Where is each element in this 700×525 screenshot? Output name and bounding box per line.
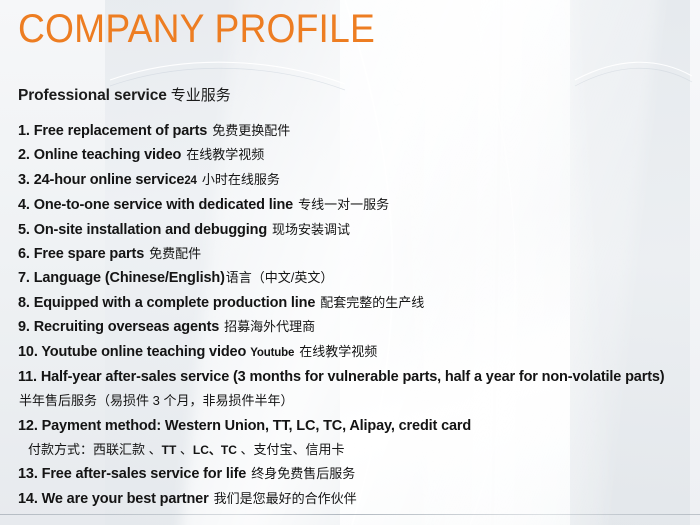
item-text-en: Free replacement of parts: [34, 123, 208, 139]
item-text-cn: 免费更换配件: [207, 123, 290, 138]
item-number: 3.: [18, 172, 30, 188]
item-text-cn: 半年售后服务（易损件 3 个月，非易损件半年）: [18, 393, 293, 408]
item-number: 9.: [18, 319, 30, 335]
list-item: 10. Youtube online teaching videoYoutube…: [18, 340, 690, 365]
item-text-cn: 配套完整的生产线: [315, 295, 424, 310]
list-item: 4. One-to-one service with dedicated lin…: [18, 193, 690, 217]
background-band-5: [690, 0, 700, 525]
item-text-cn: 小时在线服务: [197, 172, 280, 187]
item-number: 12.: [18, 418, 38, 434]
item-text-en: Recruiting overseas agents: [34, 319, 219, 335]
list-item: 7. Language (Chinese/English)语言（中文/英文）: [18, 266, 690, 290]
item-text-cn: 语言（中文/英文）: [225, 270, 334, 285]
subline-part-a: 付款方式：西联汇款 、: [28, 442, 162, 457]
item-number: 6.: [18, 246, 30, 262]
item-text-cn: 我们是您最好的合作伙伴: [209, 491, 357, 506]
subline-part-b: 、: [176, 442, 193, 457]
subline-latin-b: LC、TC: [193, 443, 237, 457]
list-item: 14. We are your best partner我们是您最好的合作伙伴: [18, 487, 690, 511]
item-text-cn: 在线教学视频: [181, 147, 264, 162]
item-number: 13.: [18, 466, 38, 482]
slide-canvas: COMPANY PROFILE Professional service专业服务…: [0, 0, 700, 525]
item-number: 2.: [18, 147, 30, 163]
subheading-cn: 专业服务: [167, 87, 231, 104]
list-item: 12. Payment method: Western Union, TT, L…: [18, 414, 690, 462]
item-text-en: We are your best partner: [42, 491, 209, 507]
item-text-cn: 专线一对一服务: [293, 197, 389, 212]
list-item: 6. Free spare parts免费配件: [18, 242, 690, 266]
bottom-divider: [0, 514, 700, 515]
list-item: 11. Half-year after-sales service (3 mon…: [18, 365, 678, 414]
item-subline-cn: 付款方式：西联汇款 、TT 、LC、TC 、支付宝、信用卡: [18, 438, 690, 462]
item-number: 1.: [18, 123, 30, 139]
item-text-en: One-to-one service with dedicated line: [34, 197, 293, 213]
item-number: 4.: [18, 197, 30, 213]
subline-latin-a: TT: [162, 443, 177, 457]
list-item: 2. Online teaching video在线教学视频: [18, 143, 690, 167]
item-text-en: Free spare parts: [34, 246, 144, 262]
item-text-cn: 在线教学视频: [294, 344, 377, 359]
item-number: 7.: [18, 270, 30, 286]
list-item: 9. Recruiting overseas agents招募海外代理商: [18, 315, 690, 339]
page-title: COMPANY PROFILE: [18, 6, 375, 52]
subline-part-c: 、支付宝、信用卡: [237, 442, 345, 457]
item-number: 10.: [18, 344, 38, 360]
list-item: 3. 24-hour online service24小时在线服务: [18, 168, 690, 193]
list-item: 1. Free replacement of parts免费更换配件: [18, 119, 690, 143]
item-number: 8.: [18, 295, 30, 311]
item-text-en: Free after-sales service for life: [42, 466, 247, 482]
item-inline-marker: 24: [184, 175, 197, 187]
item-number: 14.: [18, 491, 38, 507]
item-inline-marker: Youtube: [246, 347, 294, 359]
item-text-en: Equipped with a complete production line: [34, 295, 316, 311]
list-item: 5. On-site installation and debugging现场安…: [18, 218, 690, 242]
item-text-cn: 现场安装调试: [267, 222, 350, 237]
list-item: 13. Free after-sales service for life终身免…: [18, 462, 690, 486]
item-text-en: Half-year after-sales service (3 months …: [41, 369, 665, 385]
item-text-en: Online teaching video: [34, 147, 182, 163]
subheading-en: Professional service: [18, 87, 167, 104]
item-text-en: Youtube online teaching video: [41, 344, 246, 360]
item-text-en: Language (Chinese/English): [34, 270, 225, 286]
item-text-en: Payment method: Western Union, TT, LC, T…: [42, 418, 472, 434]
item-text-cn: 免费配件: [144, 246, 201, 261]
item-number: 11.: [18, 369, 37, 385]
item-text-en: On-site installation and debugging: [34, 222, 267, 238]
item-text-en: 24-hour online service: [34, 172, 185, 188]
item-number: 5.: [18, 222, 30, 238]
service-list: 1. Free replacement of parts免费更换配件 2. On…: [18, 119, 690, 511]
item-text-cn: 招募海外代理商: [219, 319, 315, 334]
section-subheading: Professional service专业服务: [18, 84, 231, 105]
item-text-cn: 终身免费售后服务: [246, 466, 355, 481]
list-item: 8. Equipped with a complete production l…: [18, 291, 690, 315]
